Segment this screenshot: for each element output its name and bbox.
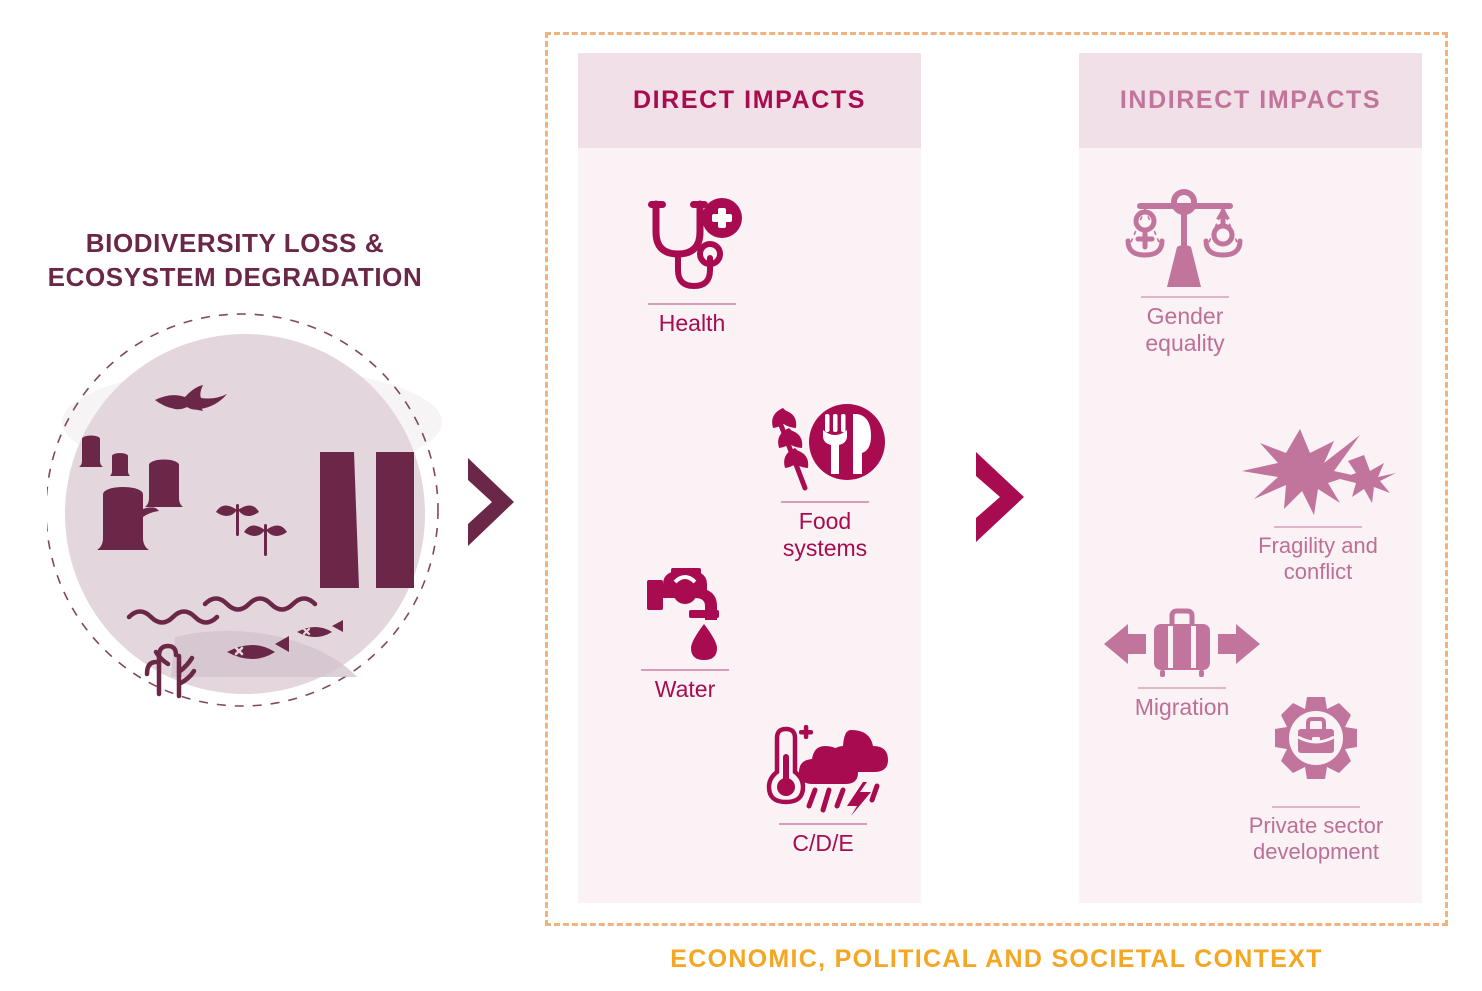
impact-divider — [779, 823, 867, 825]
impact-label-gender-equality: Gender equality — [1085, 303, 1285, 357]
explosion-burst-icon — [1218, 415, 1418, 519]
panel-indirect-header: INDIRECT IMPACTS — [1079, 53, 1422, 148]
impact-divider — [641, 669, 729, 671]
impact-item-cde[interactable]: C/D/E — [723, 712, 923, 857]
impact-divider — [648, 303, 736, 305]
impact-label-health: Health — [592, 310, 792, 337]
panel-indirect-header-text: INDIRECT IMPACTS — [1120, 86, 1381, 115]
impact-label-cde: C/D/E — [723, 830, 923, 857]
balance-scale-gender-icon — [1085, 185, 1285, 289]
panel-direct-header: DIRECT IMPACTS — [578, 53, 921, 148]
biodiversity-source-block: BIODIVERSITY LOSS & ECOSYSTEM DEGRADATIO… — [0, 0, 520, 991]
impact-item-water[interactable]: Water — [585, 558, 785, 703]
impact-label-water: Water — [585, 676, 785, 703]
impact-item-food-systems[interactable]: Food systems — [725, 390, 925, 562]
faucet-drop-icon — [585, 558, 785, 662]
impact-divider — [1274, 526, 1362, 528]
impact-label-private-sector-development: Private sector development — [1216, 813, 1416, 864]
impact-divider — [1141, 296, 1229, 298]
context-caption: ECONOMIC, POLITICAL AND SOCIETAL CONTEXT — [545, 945, 1448, 974]
impact-label-food-systems: Food systems — [725, 508, 925, 562]
page-title-line-1: BIODIVERSITY LOSS & — [0, 226, 470, 260]
panel-direct-header-text: DIRECT IMPACTS — [633, 86, 866, 115]
thermometer-storm-icon — [723, 712, 923, 816]
impact-item-health[interactable]: Health — [592, 192, 792, 337]
stethoscope-icon — [592, 192, 792, 296]
page-title: BIODIVERSITY LOSS & ECOSYSTEM DEGRADATIO… — [0, 226, 470, 295]
biodiversity-scene — [47, 312, 447, 716]
wheat-cutlery-icon — [725, 390, 925, 494]
impact-divider — [781, 501, 869, 503]
gear-briefcase-icon — [1216, 695, 1416, 799]
impact-item-private-sector-development[interactable]: Private sector development — [1216, 695, 1416, 864]
impact-item-fragility-conflict[interactable]: Fragility and conflict — [1218, 415, 1418, 584]
page-title-line-2: ECOSYSTEM DEGRADATION — [0, 260, 470, 294]
impact-divider — [1272, 806, 1360, 808]
impact-item-gender-equality[interactable]: Gender equality — [1085, 185, 1285, 357]
chevron-right-icon-first — [462, 452, 522, 557]
impact-divider — [1138, 687, 1226, 689]
suitcase-arrows-icon — [1082, 576, 1282, 680]
